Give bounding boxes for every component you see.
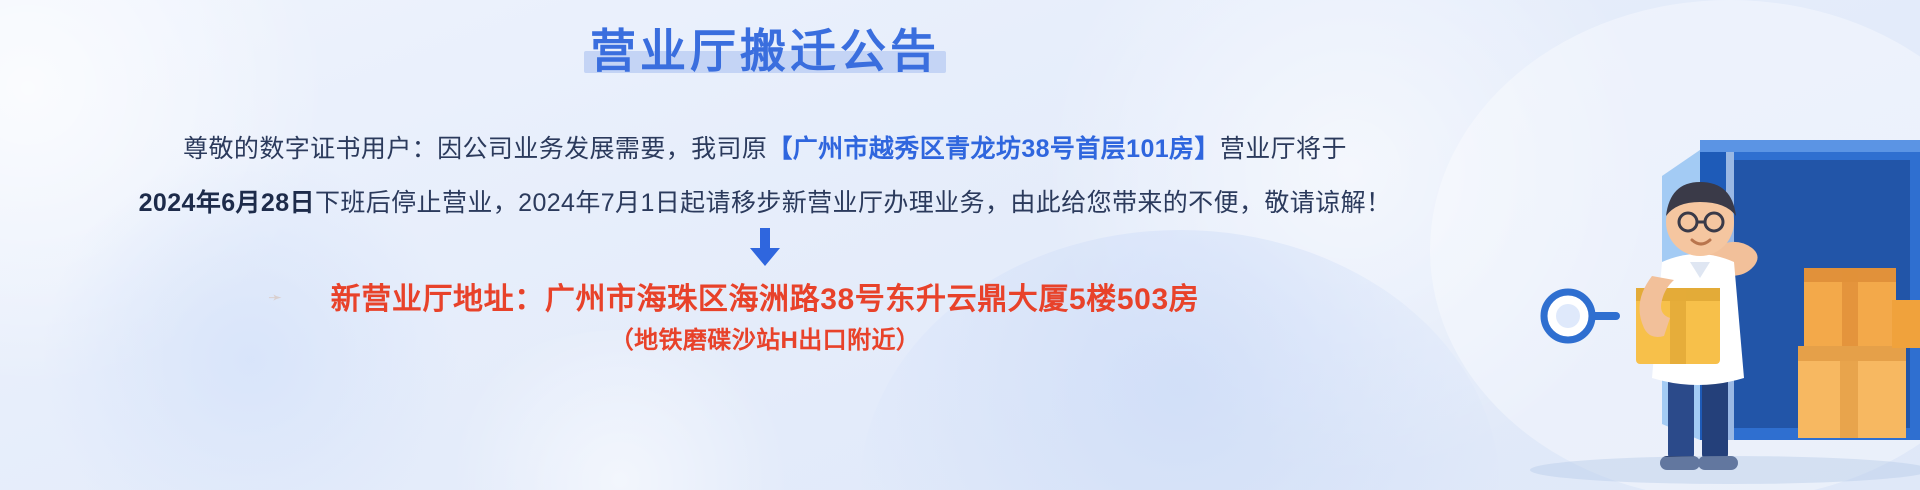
announcement-content: 营业厅搬迁公告 尊敬的数字证书用户：因公司业务发展需要，我司原【广州市越秀区青龙… [0, 0, 1530, 490]
paragraph-line1-segment2: 营业厅将于 [1220, 135, 1347, 163]
title-text: 营业厅搬迁公告 [590, 25, 940, 77]
paragraph-line1-segment1: 尊敬的数字证书用户：因公司业务发展需要，我司原 [183, 135, 767, 163]
arrow-down-icon [748, 239, 782, 256]
announcement-banner: 营业厅搬迁公告 尊敬的数字证书用户：因公司业务发展需要，我司原【广州市越秀区青龙… [0, 0, 1920, 490]
new-address-note-text: （地铁磨碟沙站H出口附近） [0, 320, 1530, 355]
paragraph-line-1: 尊敬的数字证书用户：因公司业务发展需要，我司原【广州市越秀区青龙坊38号首层10… [0, 133, 1530, 167]
page-title: 营业厅搬迁公告 [0, 26, 1530, 77]
paragraph-line2-segment1: 下班后停止营业，2024年7月1日起请移步新营业厅办理业务，由此给您带来的不便，… [315, 189, 1391, 217]
moving-truck-illustration [1400, 0, 1920, 490]
arrow-down-container [0, 228, 1530, 268]
old-address-highlight: 【广州市越秀区青龙坊38号首层101房】 [767, 135, 1220, 163]
closing-date-bold: 2024年6月28日 [139, 189, 315, 217]
paragraph-line-2: 2024年6月28日下班后停止营业，2024年7月1日起请移步新营业厅办理业务，… [0, 187, 1530, 221]
new-address-text: 新营业厅地址：广州市海珠区海洲路38号东升云鼎大厦5楼503房 [0, 274, 1530, 318]
